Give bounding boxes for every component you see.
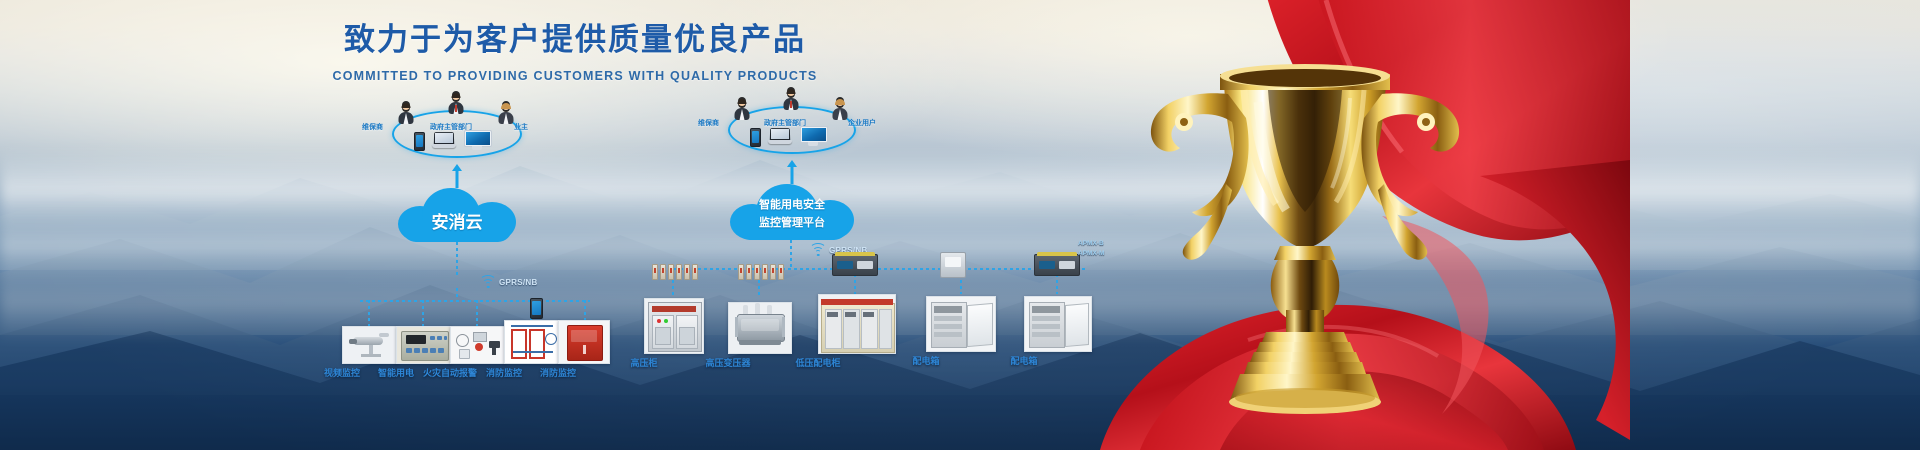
left-bus-line [360,300,590,302]
equipment-label-fire-monitor: 消防监控 [486,366,522,379]
fire-control-diagram-icon [504,320,560,364]
right-uplink-arrow [788,160,796,184]
hero-graphic [1010,0,1630,450]
left-branch-1 [422,300,424,326]
fuse-bank-right [738,264,784,280]
laptop-icon [768,128,792,144]
signal-icon [480,276,496,288]
banner-heading: 致力于为客户提供质量优良产品 COMMITTED TO PROVIDING CU… [0,14,1150,83]
person-maintenance [734,100,750,120]
left-cloud-label: 安消云 [392,208,522,233]
left-user-label-2: 业主 [514,122,528,132]
equipment-label-hv-cabinet: 高压柜 [630,356,657,369]
person-maintenance [398,104,414,124]
right-user-label-2: 企业用户 [848,118,876,128]
left-branch-0 [368,300,370,326]
equipment-label-fire-cabinet: 消防监控 [540,366,576,379]
fuse-bank-left [652,264,698,280]
right-trunk-line [790,240,792,268]
right-cloud-shape: 智能用电安全 监控管理平台 [726,182,858,240]
signal-icon [810,244,826,256]
right-user-label-0: 维保商 [698,118,719,128]
monitor-icon [800,126,826,146]
equipment-label-power-meter: 智能用电 [378,366,414,379]
cctv-camera-icon [342,326,398,364]
controller-unit-1 [832,254,878,276]
fire-cabinet-icon [558,320,610,364]
controller-unit-2 [940,252,966,278]
left-branch-2 [476,300,478,326]
person-owner [498,104,514,124]
power-meter-icon [396,326,452,364]
person-government [783,90,799,110]
monitor-icon [464,130,490,150]
equipment-label-fire-alarm: 火灾自动报警 [423,366,477,379]
smartphone-icon [414,132,425,151]
person-government [448,94,464,114]
transformer-icon [728,302,792,354]
left-gprs-link: GPRS/NB [480,276,538,288]
right-user-ring: 维保商 政府主管部门 企业用户 [728,106,856,154]
heading-chinese: 致力于为客户提供质量优良产品 [0,14,1150,59]
left-trunk-line [456,242,458,276]
equipment-label-lv-switchgear: 低压配电柜 [795,356,840,369]
right-cloud-label-line1: 智能用电安全 [726,196,858,212]
distribution-box-icon [926,296,996,352]
banner: 致力于为客户提供质量优良产品 COMMITTED TO PROVIDING CU… [0,0,1920,450]
left-gprs-label: GPRS/NB [499,278,538,287]
equipment-label-transformer: 高压变压器 [705,356,750,369]
mobile-monitor-icon [530,298,543,319]
heading-english: COMMITTED TO PROVIDING CUSTOMERS WITH QU… [0,69,1150,83]
gold-trophy [1140,0,1470,428]
low-voltage-switchgear-icon [818,294,896,354]
laptop-icon [432,132,456,148]
left-user-label-0: 维保商 [362,122,383,132]
left-user-ring: 维保商 政府主管部门 业主 [392,110,522,158]
equipment-label-cctv: 视频监控 [324,366,360,379]
fire-alarm-panel-icon [450,326,506,364]
left-uplink-arrow [453,164,461,188]
person-enterprise [832,100,848,120]
diagram-left: 维保商 政府主管部门 业主 安消云 GPR [330,92,660,422]
right-cloud-label-line2: 监控管理平台 [726,214,858,230]
smartphone-icon [750,128,761,147]
left-cloud-shape: 安消云 [392,186,522,242]
high-voltage-cabinet-icon [644,298,704,354]
equipment-label-dist-box-1: 配电箱 [912,354,939,367]
left-bus-drop [456,288,458,302]
